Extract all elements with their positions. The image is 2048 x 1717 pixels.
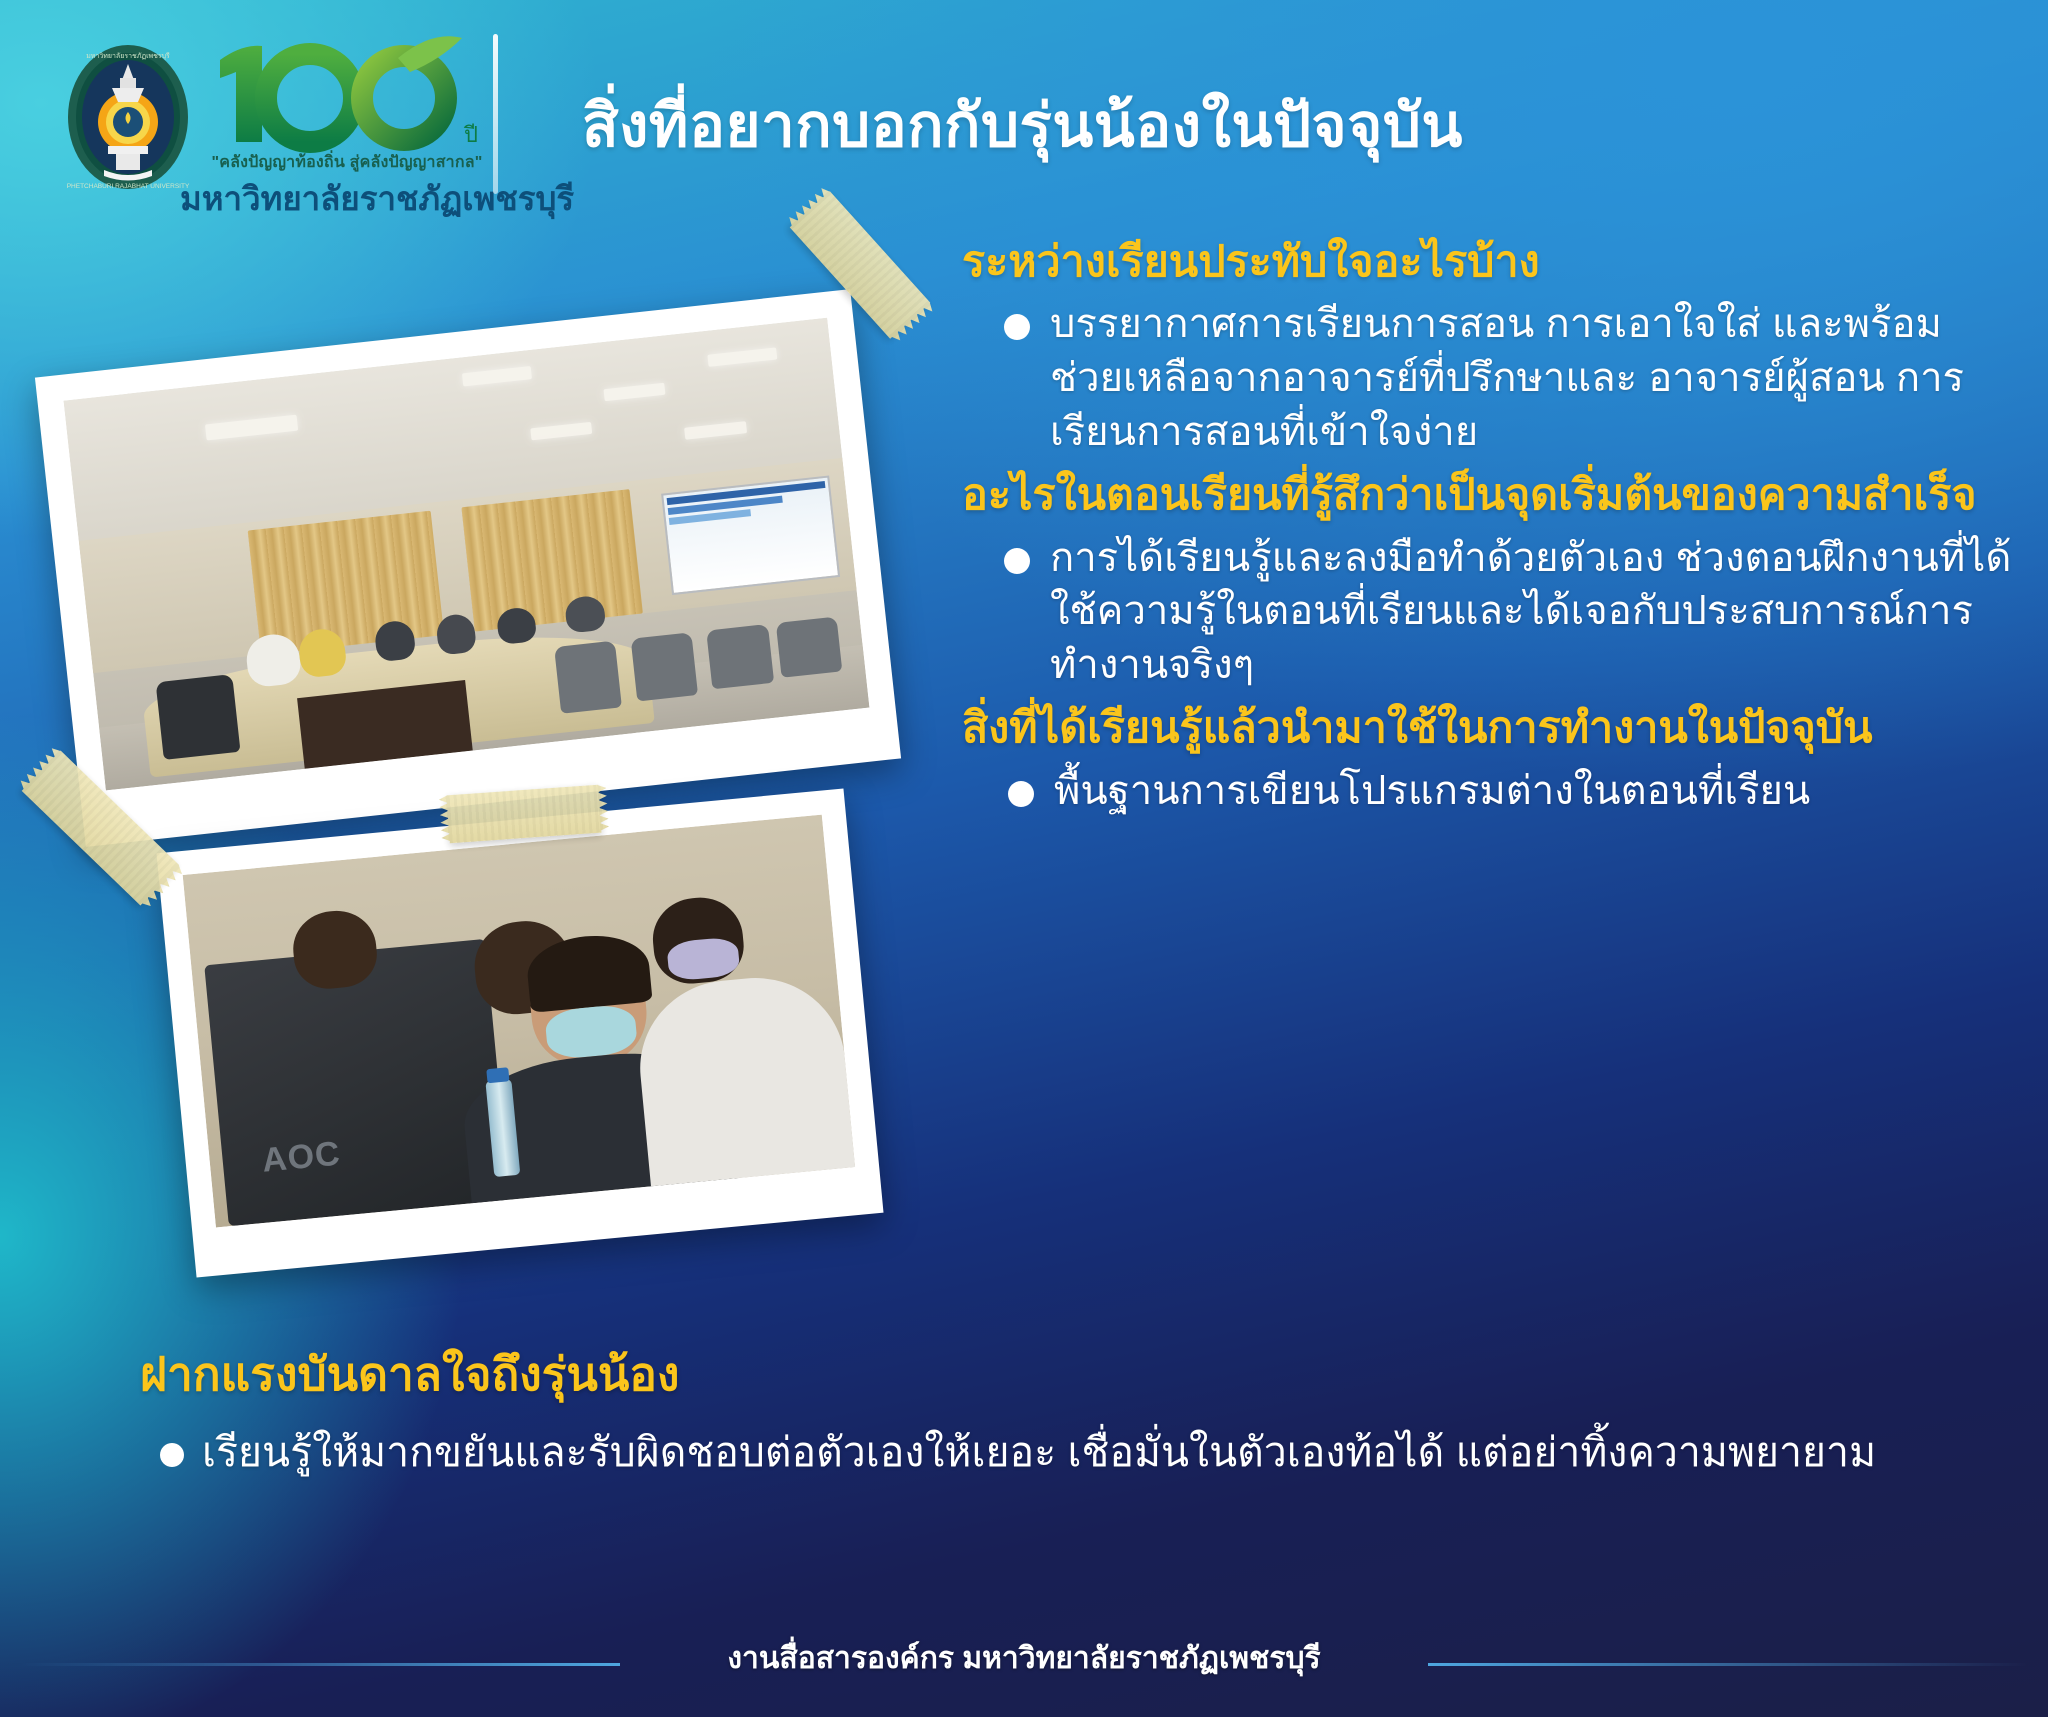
bottom-bullet: เรียนรู้ให้มากขยันและรับผิดชอบต่อตัวเองใ…	[140, 1425, 1920, 1481]
header-divider	[493, 34, 498, 194]
section-2-bullet-text: การได้เรียนรู้และลงมือทำด้วยตัวเอง ช่วงต…	[1050, 532, 2012, 693]
section-2-heading: อะไรในตอนเรียนที่รู้สึกว่าเป็นจุดเริ่มต้…	[962, 469, 2012, 521]
section-3-bullet: พื้นฐานการเขียนโปรแกรมต่างในตอนที่เรียน	[962, 765, 2012, 819]
university-logo: มหาวิทยาลัยราชภัฏเพชรบุรี PHETCHABURI RA…	[52, 34, 472, 214]
bullet-dot-icon	[160, 1443, 184, 1467]
header: มหาวิทยาลัยราชภัฏเพชรบุรี PHETCHABURI RA…	[0, 0, 2048, 230]
poster-root: มหาวิทยาลัยราชภัฏเพชรบุรี PHETCHABURI RA…	[0, 0, 2048, 1717]
bottom-section: ฝากแรงบันดาลใจถึงรุ่นน้อง เรียนรู้ให้มาก…	[140, 1338, 1920, 1481]
svg-text:มหาวิทยาลัยราชภัฏเพชรบุรี: มหาวิทยาลัยราชภัฏเพชรบุรี	[86, 52, 170, 60]
section-1-bullet: บรรยากาศการเรียนการสอน การเอาใจใส่ และพร…	[962, 298, 2012, 459]
footer-text: งานสื่อสารองค์กร มหาวิทยาลัยราชภัฏเพชรบุ…	[727, 1635, 1320, 1682]
photo-student-computer: AOC	[183, 815, 855, 1228]
photo-meeting-room	[64, 318, 870, 791]
svg-text:ปี: ปี	[463, 122, 478, 147]
bullet-dot-icon	[1008, 781, 1034, 807]
section-1-bullet-text: บรรยากาศการเรียนการสอน การเอาใจใส่ และพร…	[1050, 298, 2012, 459]
content-column: ระหว่างเรียนประทับใจอะไรบ้าง บรรยากาศการ…	[962, 236, 2012, 829]
footer: งานสื่อสารองค์กร มหาวิทยาลัยราชภัฏเพชรบุ…	[0, 1607, 2048, 1717]
page-title: สิ่งที่อยากบอกกับรุ่นน้องในปัจจุบัน	[582, 78, 1463, 173]
monitor-brand-label: AOC	[260, 1135, 342, 1181]
bullet-dot-icon	[1004, 548, 1030, 574]
section-1: ระหว่างเรียนประทับใจอะไรบ้าง บรรยากาศการ…	[962, 236, 2012, 459]
footer-rule-left	[20, 1663, 620, 1666]
photo-card-computer: AOC	[156, 788, 883, 1277]
anniversary-100-icon: ปี	[202, 34, 482, 154]
section-1-heading: ระหว่างเรียนประทับใจอะไรบ้าง	[962, 236, 2012, 288]
svg-text:PHETCHABURI RAJABHAT UNIVERSIT: PHETCHABURI RAJABHAT UNIVERSITY	[67, 183, 190, 190]
bullet-dot-icon	[1004, 314, 1030, 340]
section-3-heading: สิ่งที่ได้เรียนรู้แล้วนำมาใช้ในการทำงานใ…	[962, 702, 2012, 754]
section-2: อะไรในตอนเรียนที่รู้สึกว่าเป็นจุดเริ่มต้…	[962, 469, 2012, 692]
university-seal-icon: มหาวิทยาลัยราชภัฏเพชรบุรี PHETCHABURI RA…	[64, 42, 192, 192]
footer-rule-right	[1428, 1663, 2028, 1666]
bottom-heading: ฝากแรงบันดาลใจถึงรุ่นน้อง	[140, 1338, 1920, 1411]
section-3-bullet-text: พื้นฐานการเขียนโปรแกรมต่างในตอนที่เรียน	[1054, 765, 1810, 819]
section-2-bullet: การได้เรียนรู้และลงมือทำด้วยตัวเอง ช่วงต…	[962, 532, 2012, 693]
section-3: สิ่งที่ได้เรียนรู้แล้วนำมาใช้ในการทำงานใ…	[962, 702, 2012, 818]
bottom-bullet-text: เรียนรู้ให้มากขยันและรับผิดชอบต่อตัวเองใ…	[202, 1425, 1876, 1481]
photo-card-meeting	[35, 289, 901, 847]
logo-university-name: มหาวิทยาลัยราชภัฏเพชรบุรี	[180, 172, 510, 225]
